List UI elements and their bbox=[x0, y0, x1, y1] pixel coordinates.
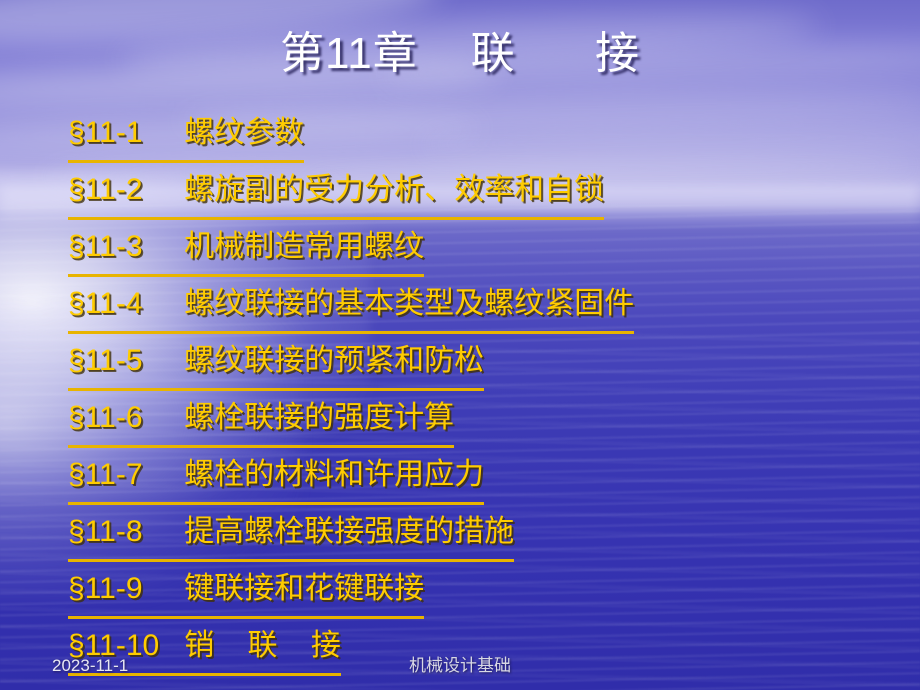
toc-link-11-8[interactable]: §11-8 提高螺栓联接强度的措施 bbox=[68, 505, 514, 562]
toc-link-11-4[interactable]: §11-4 螺纹联接的基本类型及螺纹紧固件 bbox=[68, 277, 634, 334]
toc-list: §11-1 螺纹参数 §11-2 螺旋副的受力分析、效率和自锁 §11-3 机械… bbox=[68, 106, 910, 676]
footer-deck-title: 机械设计基础 bbox=[0, 651, 920, 676]
toc-link-11-3[interactable]: §11-3 机械制造常用螺纹 bbox=[68, 220, 424, 277]
slide-canvas: 第11章 联 接 §11-1 螺纹参数 §11-2 螺旋副的受力分析、效率和自锁… bbox=[0, 0, 920, 690]
toc-link-11-9[interactable]: §11-9 键联接和花键联接 bbox=[68, 562, 424, 619]
toc-link-11-1[interactable]: §11-1 螺纹参数 bbox=[68, 106, 304, 163]
toc-link-11-6[interactable]: §11-6 螺栓联接的强度计算 bbox=[68, 391, 454, 448]
slide-title: 第11章 联 接 bbox=[0, 26, 920, 81]
toc-link-11-2[interactable]: §11-2 螺旋副的受力分析、效率和自锁 bbox=[68, 163, 604, 220]
toc-link-11-7[interactable]: §11-7 螺栓的材料和许用应力 bbox=[68, 448, 484, 505]
toc-link-11-5[interactable]: §11-5 螺纹联接的预紧和防松 bbox=[68, 334, 484, 391]
